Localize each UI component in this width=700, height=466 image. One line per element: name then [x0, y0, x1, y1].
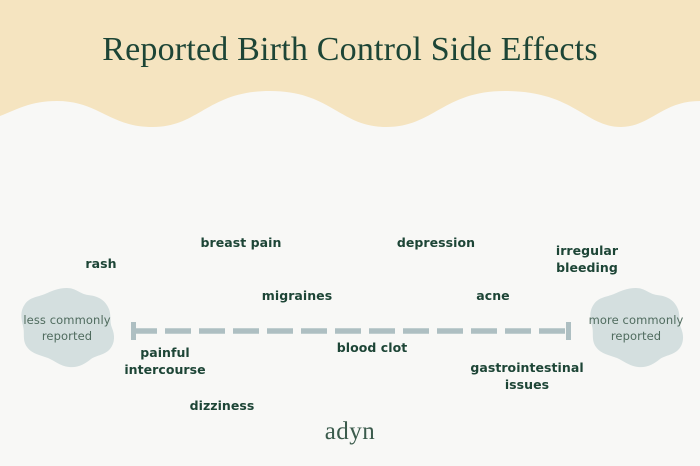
- header-band: Reported Birth Control Side Effects: [0, 0, 700, 140]
- side-effect-label-acne: acne: [433, 287, 553, 304]
- scale-area: less commonly reported more commonly rep…: [0, 140, 700, 240]
- side-effect-label-blood-clot: blood clot: [312, 339, 432, 356]
- page-title: Reported Birth Control Side Effects: [0, 0, 700, 100]
- badge-left-label: less commonly reported: [16, 312, 118, 344]
- badge-right-label: more commonly reported: [585, 312, 687, 344]
- badge-less-commonly-reported: less commonly reported: [16, 286, 118, 370]
- side-effect-label-migraines: migraines: [237, 287, 357, 304]
- side-effect-label-dizziness: dizziness: [162, 397, 282, 414]
- side-effect-label-painful-intercourse: painful intercourse: [105, 344, 225, 378]
- side-effect-label-rash: rash: [61, 255, 141, 272]
- side-effect-label-gastrointestinal-issues: gastrointestinal issues: [457, 359, 597, 393]
- brand-logo: adyn: [0, 418, 700, 446]
- badge-more-commonly-reported: more commonly reported: [585, 286, 687, 370]
- side-effect-label-depression: depression: [376, 234, 496, 251]
- side-effect-label-irregular-bleeding: irregular bleeding: [527, 242, 647, 276]
- side-effect-label-breast-pain: breast pain: [181, 234, 301, 251]
